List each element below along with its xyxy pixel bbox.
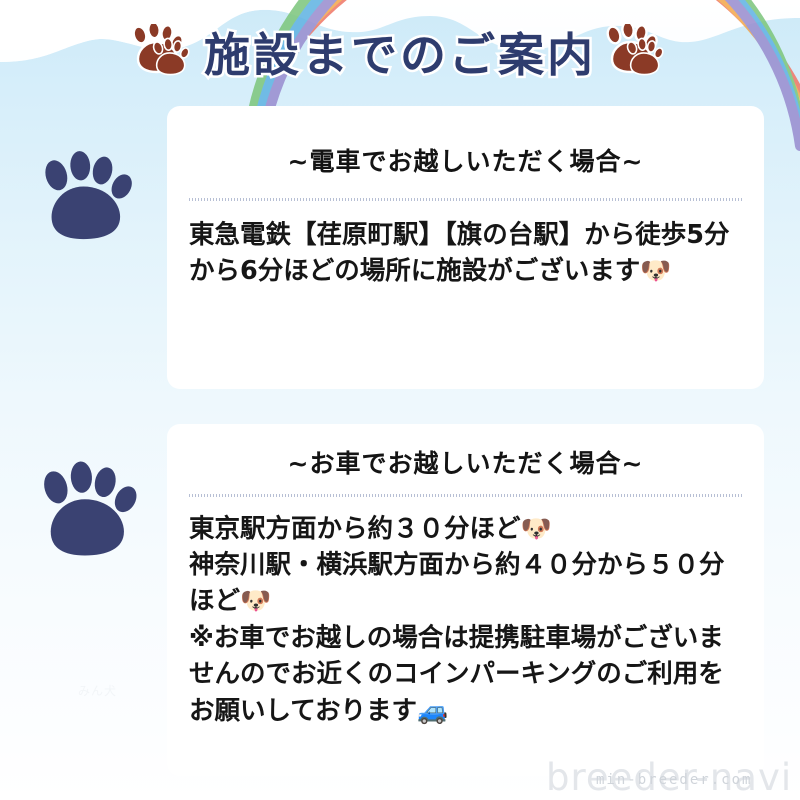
paw-print-icon [34, 142, 152, 266]
card-heading-train: ~電車でお越しいただく場合~ [167, 106, 764, 176]
watermark-faint: みん犬 [78, 682, 117, 699]
page-title: 施設までのご案内 [204, 32, 596, 78]
access-card-train: ~電車でお越しいただく場合~ 東急電鉄【荏原町駅】【旗の台駅】から徒歩5分から6… [167, 106, 764, 389]
card-line: ※お車でお越しの場合は提携駐車場がございませんのでお近くのコインパーキングのご利… [189, 620, 744, 729]
card-body-car: 東京駅方面から約３０分ほど🐶 神奈川駅・横浜駅方面から約４０分から５０分ほど🐶 … [189, 511, 744, 730]
page-title-row: 施設までのご案内 [0, 16, 800, 94]
dog-face-icon: 🐶 [521, 514, 552, 543]
dog-face-icon: 🐶 [640, 256, 671, 285]
access-card-car: ~お車でお越しいただく場合~ 東京駅方面から約３０分ほど🐶 神奈川駅・横浜駅方面… [167, 424, 764, 776]
paw-print-icon [32, 452, 158, 584]
card-divider [189, 494, 742, 497]
card-line-text: 東京駅方面から約３０分ほど [189, 514, 521, 544]
dog-face-icon: 🐶 [240, 586, 271, 615]
poster-canvas: 施設までのご案内 [0, 0, 800, 800]
card-divider [189, 198, 742, 201]
paw-print-icon [126, 24, 200, 86]
card-line: 東京駅方面から約３０分ほど🐶 [189, 511, 744, 547]
card-line: 神奈川駅・横浜駅方面から約４０分から５０分ほど🐶 [189, 547, 744, 620]
card-line-text: ※お車でお越しの場合は提携駐車場がございませんのでお近くのコインパーキングのご利… [189, 623, 724, 726]
paw-print-icon [600, 24, 674, 86]
card-body-train: 東急電鉄【荏原町駅】【旗の台駅】から徒歩5分から6分ほどの場所に施設がございます… [189, 217, 744, 289]
card-heading-car: ~お車でお越しいただく場合~ [167, 424, 764, 478]
car-icon: 🚙 [417, 696, 448, 725]
